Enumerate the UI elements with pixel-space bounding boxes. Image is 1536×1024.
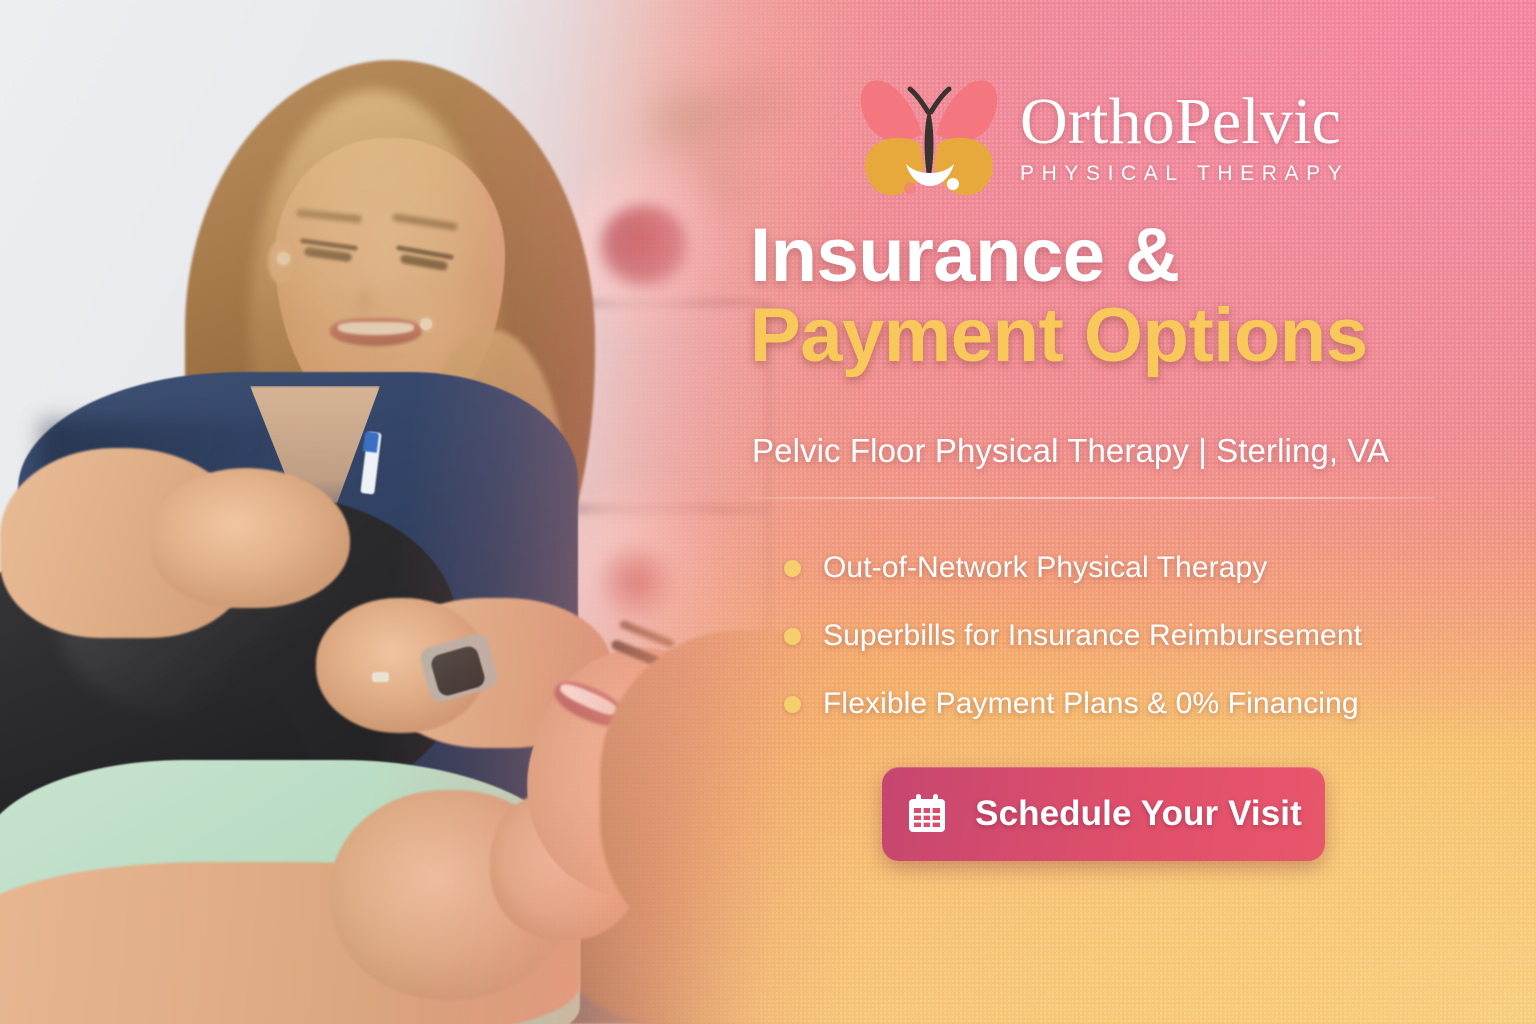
brand-logo: OrthoPelvic PHYSICAL THERAPY <box>854 72 1349 204</box>
bullet-dot-icon <box>784 696 801 713</box>
list-item: Out-of-Network Physical Therapy <box>784 534 1444 602</box>
feature-text: Flexible Payment Plans & 0% Financing <box>823 687 1359 721</box>
list-item: Flexible Payment Plans & 0% Financing <box>784 670 1444 738</box>
schedule-visit-button[interactable]: Schedule Your Visit <box>882 767 1325 861</box>
subtitle: Pelvic Floor Physical Therapy | Sterling… <box>752 432 1389 470</box>
feature-text: Out-of-Network Physical Therapy <box>823 551 1267 585</box>
schedule-visit-label: Schedule Your Visit <box>975 794 1302 834</box>
brand-wordmark: OrthoPelvic PHYSICAL THERAPY <box>1020 90 1349 186</box>
content-column: OrthoPelvic PHYSICAL THERAPY Insurance &… <box>748 0 1448 1024</box>
bullet-dot-icon <box>784 628 801 645</box>
feature-text: Superbills for Insurance Reimbursement <box>823 619 1362 653</box>
headline: Insurance & Payment Options <box>750 218 1450 374</box>
insurance-payment-options-banner: OrthoPelvic PHYSICAL THERAPY Insurance &… <box>0 0 1536 1024</box>
butterfly-icon <box>854 72 1004 204</box>
divider <box>750 497 1434 499</box>
feature-list: Out-of-Network Physical Therapy Superbil… <box>784 534 1444 738</box>
calendar-icon <box>905 792 949 836</box>
bullet-dot-icon <box>784 560 801 577</box>
headline-line-2: Payment Options <box>750 298 1450 374</box>
list-item: Superbills for Insurance Reimbursement <box>784 602 1444 670</box>
headline-line-1: Insurance & <box>750 218 1450 294</box>
brand-name: OrthoPelvic <box>1020 90 1349 153</box>
brand-tagline: PHYSICAL THERAPY <box>1020 162 1349 186</box>
